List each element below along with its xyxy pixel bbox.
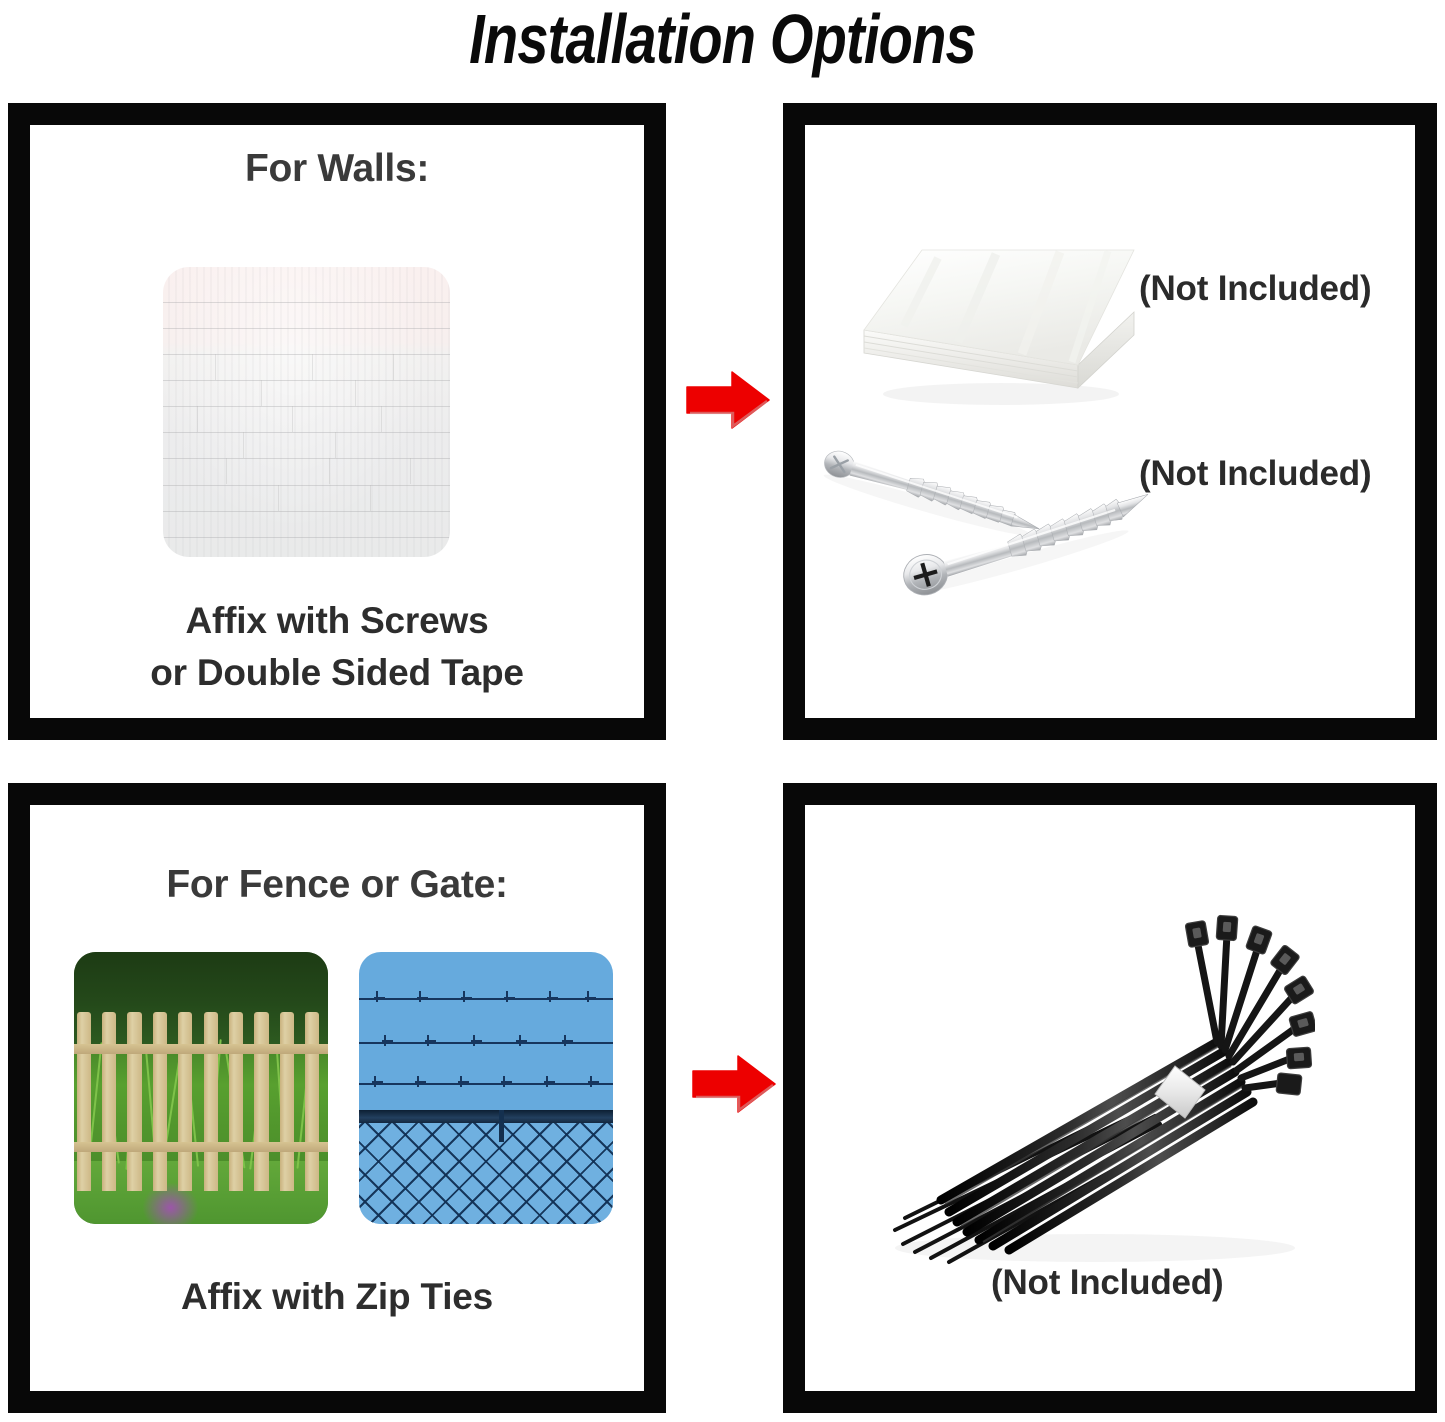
zipties-not-included-note: (Not Included)	[991, 1263, 1223, 1303]
screws-not-included-note: (Not Included)	[1139, 454, 1371, 494]
for-walls-heading: For Walls:	[30, 147, 644, 191]
panel-wall-hardware-content: (Not Included)	[805, 125, 1415, 718]
wooden-picket-fence-photo	[74, 952, 328, 1224]
panel-for-walls-content: For Walls:	[30, 125, 644, 718]
tape-not-included-note: (Not Included)	[1139, 269, 1371, 309]
arrow-fence-to-hardware-icon	[690, 1053, 778, 1115]
arrow-walls-to-hardware-icon	[684, 369, 772, 431]
installation-options-grid: For Walls:	[0, 0, 1445, 1422]
white-brick-wall-photo	[163, 267, 450, 557]
for-fence-heading: For Fence or Gate:	[30, 863, 644, 907]
for-walls-caption: Affix with Screws or Double Sided Tape	[30, 595, 644, 699]
wood-screws-pair	[812, 428, 1162, 613]
for-fence-caption: Affix with Zip Ties	[30, 1271, 644, 1323]
double-sided-tape-stack	[846, 222, 1146, 407]
for-walls-caption-line-1: Affix with Screws	[30, 595, 644, 647]
for-walls-caption-line-2: or Double Sided Tape	[30, 647, 644, 699]
panel-for-fence-or-gate: For Fence or Gate:	[8, 783, 666, 1413]
panel-for-fence-content: For Fence or Gate:	[30, 805, 644, 1391]
black-zip-ties-bundle	[845, 900, 1315, 1280]
wall-grain-texture	[163, 267, 450, 557]
panel-for-walls: For Walls:	[8, 103, 666, 740]
panel-wall-hardware: (Not Included)	[783, 103, 1437, 740]
panel-fence-hardware-content: (Not Included)	[805, 805, 1415, 1391]
chain-link-barbed-wire-fence-photo	[359, 952, 613, 1224]
panel-fence-hardware: (Not Included)	[783, 783, 1437, 1413]
